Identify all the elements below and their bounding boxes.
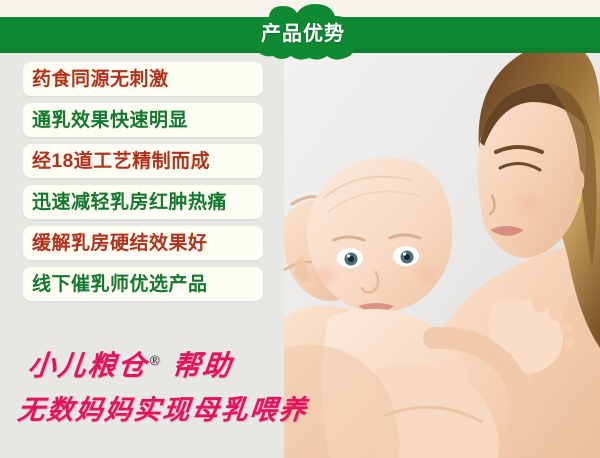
slogan-line-1: 小儿粮仓® 帮助 [12, 344, 312, 384]
benefit-pill-4: 迅速减轻乳房红肿热痛 [23, 185, 263, 219]
photo-illustration [284, 18, 600, 458]
benefit-text: 迅速减轻乳房红肿热痛 [32, 193, 227, 212]
slogan-line-2: 无数妈妈实现母乳喂养 [12, 388, 312, 427]
benefit-text: 缓解乳房硬结效果好 [32, 234, 208, 253]
section-title-badge: 产品优势 [245, 4, 361, 62]
benefits-list: 药食同源无刺激 通乳效果快速明显 经18道工艺精制而成 迅速减轻乳房红肿热痛 缓… [23, 62, 263, 308]
registered-trademark-icon: ® [148, 354, 161, 369]
slogan-line-2-text: 无数妈妈实现母乳喂养 [10, 388, 310, 427]
benefit-pill-6: 线下催乳师优选产品 [23, 267, 263, 301]
benefit-text: 通乳效果快速明显 [32, 111, 188, 130]
section-title: 产品优势 [245, 4, 361, 62]
benefit-pill-2: 通乳效果快速明显 [23, 103, 263, 137]
slogan-line-1-text: 小儿粮仓® 帮助 [10, 344, 235, 384]
benefit-pill-3: 经18道工艺精制而成 [23, 144, 263, 178]
product-advantages-banner: 产品优势 药食同源无刺激 通乳效果快速明显 经18道工艺精制而成 迅速减轻乳房红… [0, 0, 600, 458]
slogan-line-1-suffix: 帮助 [171, 349, 234, 382]
benefit-text: 药食同源无刺激 [32, 70, 169, 89]
benefit-text: 线下催乳师优选产品 [32, 275, 208, 294]
mother-holding-baby-photo [284, 18, 600, 458]
benefit-pill-5: 缓解乳房硬结效果好 [23, 226, 263, 260]
brand-name: 小儿粮仓 [26, 349, 149, 382]
benefit-text: 经18道工艺精制而成 [32, 152, 210, 171]
benefit-pill-1: 药食同源无刺激 [23, 62, 263, 96]
